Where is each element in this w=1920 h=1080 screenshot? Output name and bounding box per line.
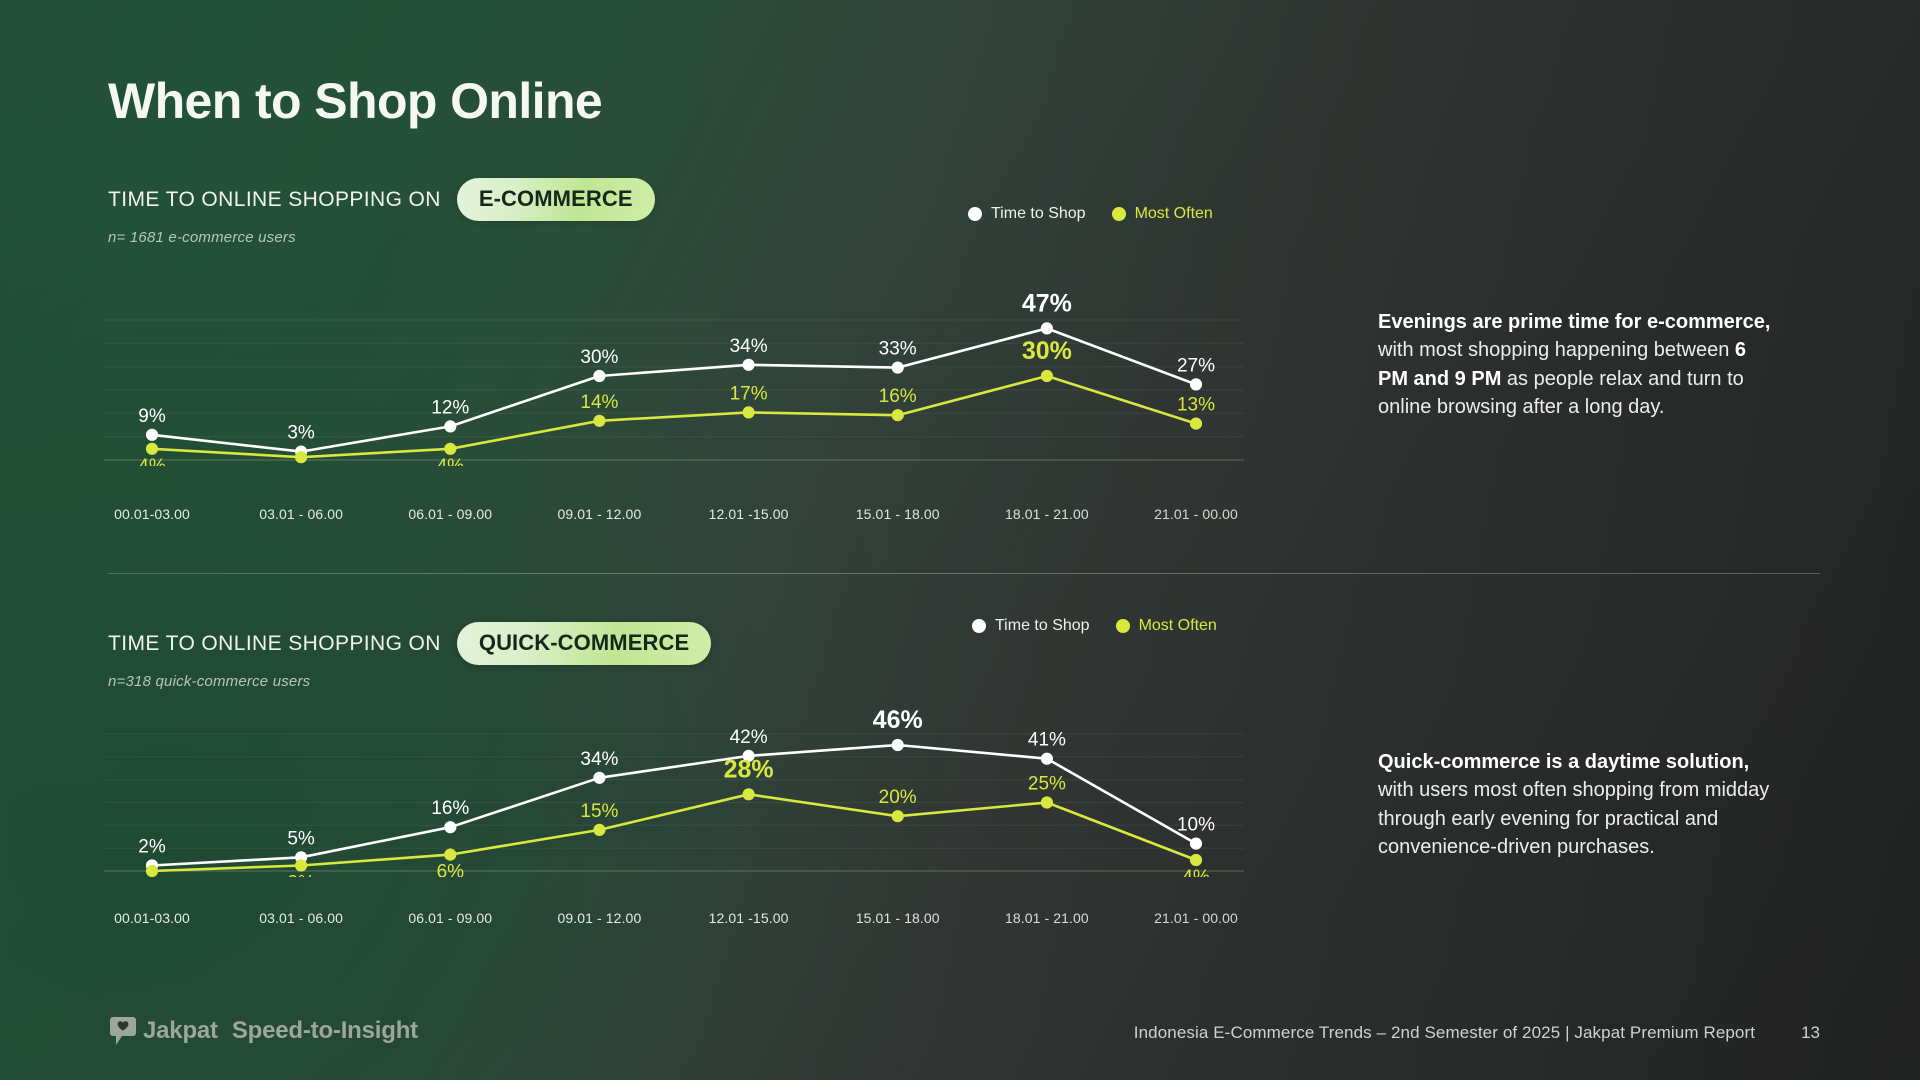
data-label: 2% [138, 837, 166, 858]
data-label: 3% [287, 423, 315, 444]
section-pill-quickcommerce[interactable]: QUICK-COMMERCE [457, 622, 711, 665]
data-label: 28% [724, 755, 774, 783]
data-point [743, 407, 754, 418]
section-header-row: TIME TO ONLINE SHOPPING ON E-COMMERCE [108, 178, 655, 221]
x-axis-tick-label: 12.01 -15.00 [679, 910, 819, 926]
data-label: 47% [1022, 289, 1072, 317]
legend-item-most-often[interactable]: Most Often [1116, 617, 1217, 635]
page-title: When to Shop Online [108, 72, 602, 130]
data-label: 9% [138, 406, 166, 427]
data-label: 42% [730, 727, 768, 748]
data-label: 46% [873, 706, 923, 734]
data-point [892, 410, 903, 421]
data-point [892, 739, 903, 750]
brand-block: Jakpat Speed-to-Insight [110, 1016, 418, 1046]
data-label: 34% [580, 749, 618, 770]
x-axis-tick-label: 18.01 - 21.00 [977, 910, 1117, 926]
slide-root: When to Shop Online TIME TO ONLINE SHOPP… [0, 0, 1920, 1080]
legend-dot-white-icon [968, 207, 982, 221]
footer-report-text: Indonesia E-Commerce Trends – 2nd Semest… [1134, 1023, 1755, 1043]
data-point [296, 452, 307, 463]
data-label: 12% [431, 397, 469, 418]
section-sample-size: n=318 quick-commerce users [108, 673, 711, 690]
data-point [1190, 854, 1201, 865]
data-point [1190, 418, 1201, 429]
footer-right: Indonesia E-Commerce Trends – 2nd Semest… [1134, 1023, 1820, 1043]
data-point [1190, 838, 1201, 849]
data-label: 6% [437, 862, 465, 877]
x-axis-tick-label: 12.01 -15.00 [679, 506, 819, 522]
x-axis-tick-label: 09.01 - 12.00 [529, 506, 669, 522]
data-label: 27% [1177, 355, 1215, 376]
data-point [445, 849, 456, 860]
legend-item-time-to-shop[interactable]: Time to Shop [972, 617, 1090, 635]
legend-label: Most Often [1139, 617, 1217, 635]
data-label: 4% [1182, 867, 1210, 877]
x-axis-tick-label: 03.01 - 06.00 [231, 910, 371, 926]
data-point [1041, 323, 1052, 334]
data-point [445, 822, 456, 833]
data-label: 20% [879, 787, 917, 808]
data-point [594, 772, 605, 783]
x-axis-tick-label: 15.01 - 18.00 [828, 910, 968, 926]
legend-chart-2: Time to Shop Most Often [972, 617, 1217, 635]
data-label: 2% [287, 873, 315, 878]
legend-dot-lime-icon [1116, 619, 1130, 633]
data-point [1041, 370, 1052, 381]
x-axis-tick-label: 03.01 - 06.00 [231, 506, 371, 522]
legend-label: Time to Shop [995, 617, 1090, 635]
jakpat-logo: Jakpat [110, 1016, 218, 1046]
data-label: 33% [879, 339, 917, 360]
data-point [146, 443, 157, 454]
x-axis-tick-label: 18.01 - 21.00 [977, 506, 1117, 522]
x-axis-tick-label: 21.01 - 00.00 [1126, 506, 1266, 522]
data-point [594, 824, 605, 835]
section-quickcommerce-header: TIME TO ONLINE SHOPPING ON QUICK-COMMERC… [108, 622, 711, 690]
data-point [1190, 379, 1201, 390]
section-pill-ecommerce[interactable]: E-COMMERCE [457, 178, 655, 221]
legend-dot-lime-icon [1112, 207, 1126, 221]
legend-label: Most Often [1135, 205, 1213, 223]
section-divider [108, 573, 1820, 574]
x-axis-tick-label: 06.01 - 09.00 [380, 910, 520, 926]
data-label: 30% [580, 347, 618, 368]
data-label: 4% [437, 456, 465, 466]
data-label: 15% [580, 801, 618, 822]
section-header-row: TIME TO ONLINE SHOPPING ON QUICK-COMMERC… [108, 622, 711, 665]
data-label: 14% [580, 392, 618, 413]
insight-note-ecommerce: Evenings are prime time for e-commerce, … [1378, 308, 1778, 422]
legend-chart-1: Time to Shop Most Often [968, 205, 1213, 223]
footer: Jakpat Speed-to-Insight Indonesia E-Comm… [0, 1010, 1920, 1070]
data-point [594, 415, 605, 426]
legend-label: Time to Shop [991, 205, 1086, 223]
data-point [146, 865, 157, 876]
x-axis-tick-label: 21.01 - 00.00 [1126, 910, 1266, 926]
legend-item-most-often[interactable]: Most Often [1112, 205, 1213, 223]
legend-dot-white-icon [972, 619, 986, 633]
x-axis-tick-label: 15.01 - 18.00 [828, 506, 968, 522]
data-label: 4% [138, 456, 166, 466]
brand-tagline: Speed-to-Insight [232, 1017, 418, 1045]
line-chart-quickcommerce: 2%5%16%34%42%46%41%10%0%2%6%15%28%20%25%… [104, 702, 1244, 877]
data-label: 17% [730, 383, 768, 404]
data-label: 13% [1177, 395, 1215, 416]
footer-page-number: 13 [1801, 1023, 1820, 1043]
x-axis-tick-label: 00.01-03.00 [82, 506, 222, 522]
data-point [743, 789, 754, 800]
data-point [743, 359, 754, 370]
section-ecommerce-header: TIME TO ONLINE SHOPPING ON E-COMMERCE n=… [108, 178, 655, 246]
data-point [445, 421, 456, 432]
legend-item-time-to-shop[interactable]: Time to Shop [968, 205, 1086, 223]
data-point [594, 370, 605, 381]
section-sample-size: n= 1681 e-commerce users [108, 229, 655, 246]
data-label: 5% [287, 828, 315, 849]
x-axis-chart-1: 00.01-03.0003.01 - 06.0006.01 - 09.0009.… [104, 506, 1244, 526]
x-axis-tick-label: 06.01 - 09.00 [380, 506, 520, 522]
data-point [892, 362, 903, 373]
data-label: 30% [1022, 337, 1072, 365]
data-label: 34% [730, 336, 768, 357]
chart-1-svg: 9%3%12%30%34%33%47%27%4%1%4%14%17%16%30%… [104, 286, 1244, 466]
insight-note-quickcommerce: Quick-commerce is a daytime solution, wi… [1378, 748, 1778, 862]
x-axis-tick-label: 00.01-03.00 [82, 910, 222, 926]
chart-2-svg: 2%5%16%34%42%46%41%10%0%2%6%15%28%20%25%… [104, 702, 1244, 877]
x-axis-tick-label: 09.01 - 12.00 [529, 910, 669, 926]
data-label: 25% [1028, 774, 1066, 795]
data-point [892, 811, 903, 822]
line-chart-ecommerce: 9%3%12%30%34%33%47%27%4%1%4%14%17%16%30%… [104, 286, 1244, 466]
data-label: 41% [1028, 730, 1066, 751]
data-point [296, 860, 307, 871]
section-label: TIME TO ONLINE SHOPPING ON [108, 188, 441, 212]
speech-bubble-heart-icon [110, 1016, 136, 1046]
data-label: 10% [1177, 815, 1215, 836]
data-point [445, 443, 456, 454]
data-label: 16% [879, 386, 917, 407]
data-point [146, 429, 157, 440]
brand-name: Jakpat [143, 1017, 218, 1045]
data-point [1041, 797, 1052, 808]
data-label: 16% [431, 798, 469, 819]
section-label: TIME TO ONLINE SHOPPING ON [108, 632, 441, 656]
data-label: 1% [287, 464, 315, 466]
data-point [1041, 753, 1052, 764]
x-axis-chart-2: 00.01-03.0003.01 - 06.0006.01 - 09.0009.… [104, 910, 1244, 930]
